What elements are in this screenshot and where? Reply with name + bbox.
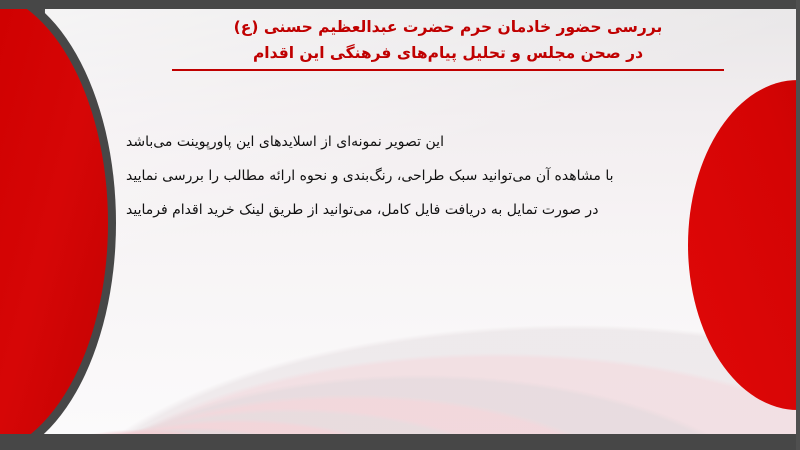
- slide-title-line-1: بررسی حضور خادمان حرم حضرت عبدالعظیم حسن…: [148, 14, 748, 40]
- bottom-frame-bar: [0, 434, 800, 450]
- top-frame-bar: [0, 0, 800, 9]
- presentation-slide: بررسی حضور خادمان حرم حضرت عبدالعظیم حسن…: [0, 0, 800, 450]
- right-frame-bar: [796, 0, 800, 450]
- slide-title-line-2: در صحن مجلس و تحلیل پیام‌های فرهنگی این …: [148, 40, 748, 66]
- body-line-2: با مشاهده آن می‌توانید سبک طراحی، رنگ‌بن…: [126, 159, 766, 193]
- body-line-3: در صورت تمایل به دریافت فایل کامل، می‌تو…: [126, 193, 766, 227]
- slide-content: بررسی حضور خادمان حرم حضرت عبدالعظیم حسن…: [40, 9, 800, 434]
- title-underline-rule: [172, 69, 724, 71]
- slide-body-text: این تصویر نمونه‌ای از اسلایدهای این پاور…: [126, 125, 766, 227]
- slide-title: بررسی حضور خادمان حرم حضرت عبدالعظیم حسن…: [148, 14, 748, 71]
- body-line-1: این تصویر نمونه‌ای از اسلایدهای این پاور…: [126, 125, 766, 159]
